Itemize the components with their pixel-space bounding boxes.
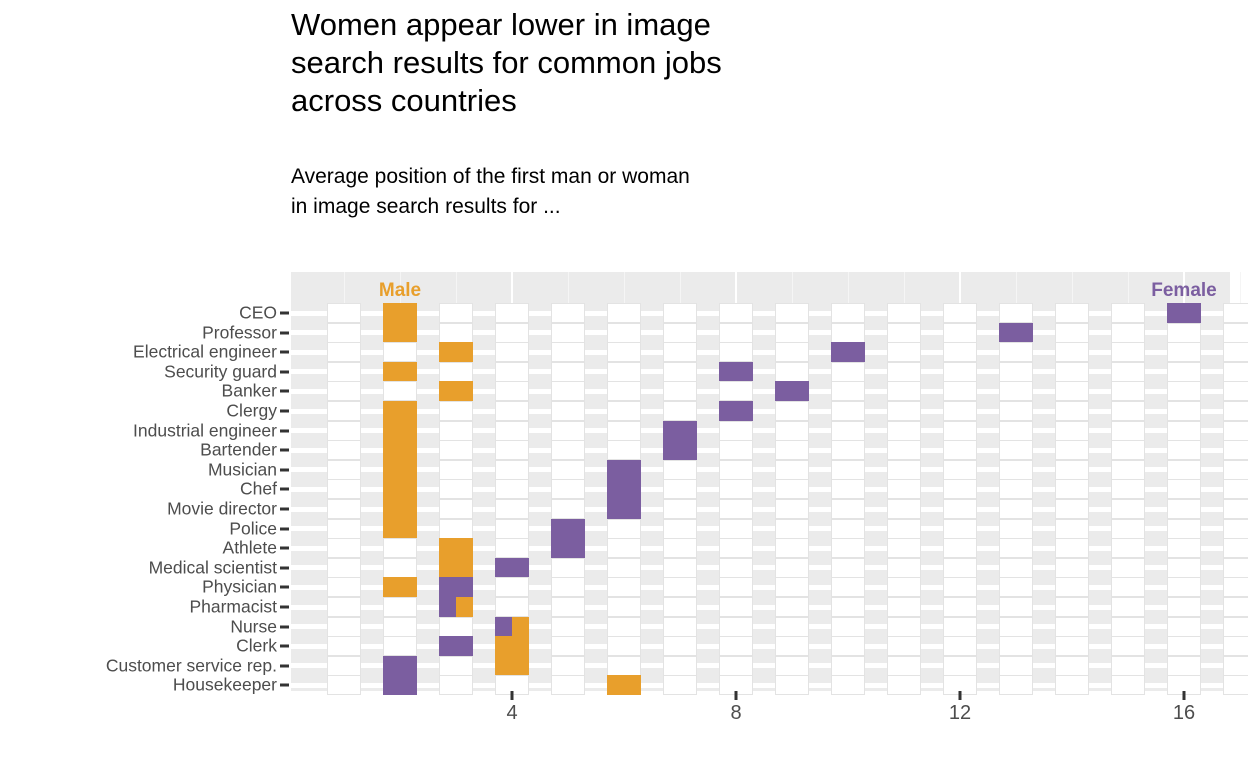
grid-cell	[607, 617, 641, 637]
gridline-row	[291, 624, 1230, 629]
legend-label-female: Female	[1151, 280, 1216, 302]
grid-cell	[775, 656, 809, 676]
grid-cell	[887, 577, 921, 597]
grid-cell	[607, 636, 641, 656]
grid-cell	[719, 421, 753, 441]
y-axis-label: Professor	[202, 322, 277, 343]
grid-cell	[1111, 558, 1145, 578]
grid-cell	[887, 323, 921, 343]
gridline-row	[291, 487, 1230, 492]
gridline-row	[291, 565, 1230, 570]
y-axis-label: Security guard	[164, 361, 277, 382]
y-axis-label: Athlete	[223, 538, 277, 559]
grid-cell	[551, 362, 585, 382]
female-marker[interactable]	[551, 519, 585, 539]
grid-cell	[831, 519, 865, 539]
grid-cell	[775, 460, 809, 480]
grid-cell	[663, 401, 697, 421]
grid-cell	[327, 440, 361, 460]
grid-cell	[775, 538, 809, 558]
male-marker[interactable]	[383, 303, 417, 323]
grid-cell	[775, 558, 809, 578]
grid-cell	[831, 656, 865, 676]
x-axis-tick	[735, 691, 738, 700]
grid-cell	[1111, 538, 1145, 558]
grid-cell	[1055, 656, 1089, 676]
grid-cell	[943, 401, 977, 421]
female-marker[interactable]	[607, 499, 641, 519]
y-axis-tick	[280, 508, 289, 511]
grid-cell	[1055, 479, 1089, 499]
grid-cell	[719, 440, 753, 460]
grid-cell	[719, 342, 753, 362]
grid-cell	[1223, 636, 1248, 656]
grid-cell	[1055, 597, 1089, 617]
grid-cell	[383, 342, 417, 362]
grid-cell	[1223, 362, 1248, 382]
grid-cell	[719, 303, 753, 323]
gridline-row	[291, 644, 1230, 649]
grid-cell	[943, 303, 977, 323]
male-marker[interactable]	[383, 499, 417, 519]
y-axis-tick	[280, 664, 289, 667]
grid-cell	[495, 362, 529, 382]
male-marker[interactable]	[439, 342, 473, 362]
grid-cell	[495, 323, 529, 343]
grid-cell	[719, 519, 753, 539]
male-marker[interactable]	[383, 323, 417, 343]
female-marker[interactable]	[439, 636, 473, 656]
x-axis-tick	[511, 691, 514, 700]
gridline-row	[291, 585, 1230, 590]
grid-cell	[1223, 538, 1248, 558]
grid-cell	[1167, 421, 1201, 441]
female-marker[interactable]	[663, 440, 697, 460]
grid-cell	[1223, 401, 1248, 421]
grid-cell	[607, 303, 641, 323]
y-axis-label: Nurse	[230, 616, 277, 637]
subtitle-block: Average position of the first man or wom…	[291, 162, 1031, 222]
gridline-row	[291, 409, 1230, 414]
y-axis-label: Clergy	[226, 401, 277, 422]
grid-cell	[383, 597, 417, 617]
grid-cell	[551, 460, 585, 480]
gridline-row	[291, 605, 1230, 610]
grid-cell	[775, 636, 809, 656]
grid-cell	[887, 479, 921, 499]
grid-cell	[719, 597, 753, 617]
y-axis-label: Clerk	[236, 636, 277, 657]
grid-cell	[1223, 303, 1248, 323]
grid-cell	[775, 597, 809, 617]
grid-cell	[943, 577, 977, 597]
y-axis-label: Industrial engineer	[133, 420, 277, 441]
grid-cell	[663, 381, 697, 401]
y-axis-label: Chef	[240, 479, 277, 500]
grid-cell	[551, 499, 585, 519]
grid-cell	[327, 401, 361, 421]
grid-cell	[719, 323, 753, 343]
grid-cell	[383, 538, 417, 558]
grid-cell	[663, 617, 697, 637]
grid-cell	[1167, 558, 1201, 578]
grid-cell	[1111, 421, 1145, 441]
grid-cell	[831, 479, 865, 499]
grid-cell	[327, 519, 361, 539]
grid-cell	[999, 558, 1033, 578]
grid-cell	[1055, 381, 1089, 401]
grid-cell	[551, 597, 585, 617]
female-marker[interactable]	[383, 656, 417, 676]
female-marker[interactable]	[607, 460, 641, 480]
grid-cell	[607, 577, 641, 597]
female-marker[interactable]	[1167, 303, 1201, 323]
grid-cell	[663, 656, 697, 676]
grid-cell	[327, 617, 361, 637]
grid-cell	[327, 460, 361, 480]
grid-cell	[943, 440, 977, 460]
female-marker[interactable]	[495, 558, 529, 578]
grid-cell	[607, 362, 641, 382]
male-marker[interactable]	[439, 558, 473, 578]
grid-cell	[327, 558, 361, 578]
grid-cell	[1167, 362, 1201, 382]
grid-cell	[439, 421, 473, 441]
grid-cell	[1111, 362, 1145, 382]
grid-cell	[439, 519, 473, 539]
x-axis-tick	[959, 691, 962, 700]
grid-cell	[1223, 381, 1248, 401]
grid-cell	[495, 401, 529, 421]
grid-cell	[1167, 519, 1201, 539]
grid-cell	[1055, 303, 1089, 323]
y-axis-label: CEO	[239, 303, 277, 324]
grid-cell	[1111, 479, 1145, 499]
grid-cell	[775, 577, 809, 597]
gridline-row	[291, 428, 1230, 433]
gridline-row	[291, 389, 1230, 394]
female-marker[interactable]	[663, 421, 697, 441]
grid-cell	[831, 617, 865, 637]
grid-cell	[663, 303, 697, 323]
grid-cell	[775, 401, 809, 421]
grid-cell	[831, 499, 865, 519]
grid-cell	[719, 479, 753, 499]
grid-cell	[327, 577, 361, 597]
male-marker[interactable]	[383, 460, 417, 480]
grid-cell	[327, 381, 361, 401]
grid-cell	[831, 401, 865, 421]
grid-cell	[495, 342, 529, 362]
grid-cell	[1111, 617, 1145, 637]
grid-cell	[999, 597, 1033, 617]
y-axis-tick	[280, 625, 289, 628]
grid-cell	[551, 617, 585, 637]
grid-cell	[663, 362, 697, 382]
grid-cell	[607, 656, 641, 676]
gridline-row	[291, 369, 1230, 374]
grid-cell	[607, 401, 641, 421]
grid-cell	[439, 401, 473, 421]
grid-cell	[607, 342, 641, 362]
grid-cell	[719, 577, 753, 597]
grid-cell	[551, 479, 585, 499]
grid-cell	[663, 636, 697, 656]
grid-cell	[831, 597, 865, 617]
y-axis-tick	[280, 547, 289, 550]
x-axis-label: 16	[1173, 702, 1195, 725]
gridline-row	[291, 350, 1230, 355]
grid-cell	[831, 577, 865, 597]
grid-cell	[999, 538, 1033, 558]
y-axis-tick	[280, 606, 289, 609]
male-marker[interactable]	[495, 656, 529, 676]
grid-cell	[943, 342, 977, 362]
male-marker[interactable]	[512, 617, 529, 637]
grid-cell	[495, 479, 529, 499]
grid-cell	[999, 656, 1033, 676]
grid-cell	[439, 303, 473, 323]
grid-cell	[439, 617, 473, 637]
grid-cell	[999, 421, 1033, 441]
grid-cell	[831, 636, 865, 656]
grid-cell	[887, 597, 921, 617]
grid-cell	[439, 499, 473, 519]
x-axis: 481216	[291, 691, 1230, 751]
grid-cell	[1111, 499, 1145, 519]
grid-cell	[887, 617, 921, 637]
female-marker[interactable]	[607, 479, 641, 499]
male-marker[interactable]	[383, 401, 417, 421]
grid-cell	[327, 597, 361, 617]
y-axis-tick	[280, 684, 289, 687]
grid-cell	[327, 479, 361, 499]
male-marker[interactable]	[383, 519, 417, 539]
male-marker[interactable]	[456, 597, 473, 617]
grid-cell	[1223, 342, 1248, 362]
y-axis-tick	[280, 390, 289, 393]
grid-cell	[719, 381, 753, 401]
grid-cell	[943, 421, 977, 441]
male-marker[interactable]	[439, 381, 473, 401]
grid-cell	[1223, 597, 1248, 617]
female-marker[interactable]	[719, 401, 753, 421]
grid-cell	[1167, 617, 1201, 637]
grid-cell	[551, 440, 585, 460]
grid-cell	[551, 636, 585, 656]
grid-cell	[663, 479, 697, 499]
male-marker[interactable]	[383, 421, 417, 441]
grid-cell	[1111, 519, 1145, 539]
grid-cell	[999, 342, 1033, 362]
grid-cell	[887, 460, 921, 480]
grid-cell	[495, 577, 529, 597]
grid-cell	[1167, 401, 1201, 421]
y-axis-label: Pharmacist	[189, 597, 277, 618]
grid-cell	[943, 636, 977, 656]
grid-cell	[831, 421, 865, 441]
grid-cell	[495, 440, 529, 460]
y-axis-label: Medical scientist	[149, 557, 277, 578]
grid-cell	[327, 362, 361, 382]
male-marker[interactable]	[439, 538, 473, 558]
grid-cell	[887, 440, 921, 460]
gridline-row	[291, 546, 1230, 551]
grid-cell	[1111, 636, 1145, 656]
grid-cell	[887, 538, 921, 558]
grid-cell	[887, 558, 921, 578]
grid-cell	[887, 499, 921, 519]
grid-cell	[775, 323, 809, 343]
grid-cell	[1223, 479, 1248, 499]
x-axis-label: 8	[730, 702, 741, 725]
chart-title: Women appear lower in image search resul…	[291, 6, 1011, 120]
x-axis-tick	[1183, 691, 1186, 700]
grid-cell	[1055, 499, 1089, 519]
grid-cell	[831, 440, 865, 460]
grid-cell	[831, 460, 865, 480]
grid-cell	[1167, 577, 1201, 597]
grid-cell	[999, 617, 1033, 637]
grid-cell	[775, 617, 809, 637]
y-axis-label: Bartender	[200, 440, 277, 461]
plot-area: MaleFemale	[291, 272, 1230, 691]
male-marker[interactable]	[383, 440, 417, 460]
male-marker[interactable]	[383, 577, 417, 597]
grid-cell	[663, 460, 697, 480]
grid-cell	[1111, 342, 1145, 362]
grid-cell	[719, 460, 753, 480]
grid-cell	[943, 323, 977, 343]
grid-cell	[1111, 381, 1145, 401]
grid-cell	[327, 499, 361, 519]
grid-cell	[551, 656, 585, 676]
female-marker[interactable]	[439, 577, 473, 597]
grid-cell	[607, 381, 641, 401]
grid-cell	[999, 381, 1033, 401]
chart-subtitle: Average position of the first man or wom…	[291, 162, 1031, 222]
grid-cell	[831, 303, 865, 323]
grid-cell	[887, 303, 921, 323]
grid-cell	[439, 440, 473, 460]
grid-cell	[1167, 538, 1201, 558]
y-axis: CEOProfessorElectrical engineerSecurity …	[0, 272, 291, 691]
grid-cell	[775, 440, 809, 460]
grid-cell	[607, 597, 641, 617]
grid-cell	[1223, 460, 1248, 480]
x-axis-label: 12	[949, 702, 971, 725]
grid-cell	[943, 538, 977, 558]
grid-cell	[495, 538, 529, 558]
y-axis-label: Police	[229, 518, 277, 539]
y-axis-label: Customer service rep.	[106, 655, 277, 676]
grid-cell	[1055, 323, 1089, 343]
grid-cell	[831, 538, 865, 558]
grid-cell	[663, 499, 697, 519]
female-marker[interactable]	[439, 597, 456, 617]
grid-cell	[1055, 440, 1089, 460]
grid-cell	[1167, 440, 1201, 460]
y-axis-label: Movie director	[167, 499, 277, 520]
grid-cell	[887, 519, 921, 539]
grid-cell	[607, 519, 641, 539]
grid-cell	[943, 617, 977, 637]
y-axis-tick	[280, 488, 289, 491]
y-axis-tick	[280, 468, 289, 471]
grid-cell	[495, 597, 529, 617]
grid-cell	[607, 323, 641, 343]
male-marker[interactable]	[383, 479, 417, 499]
grid-cell	[1111, 460, 1145, 480]
y-axis-tick	[280, 586, 289, 589]
grid-cell	[551, 342, 585, 362]
female-marker[interactable]	[999, 323, 1033, 343]
grid-cell	[327, 656, 361, 676]
female-marker[interactable]	[551, 538, 585, 558]
grid-cell	[943, 381, 977, 401]
grid-cell	[1223, 440, 1248, 460]
grid-cell	[327, 421, 361, 441]
male-marker[interactable]	[495, 636, 529, 656]
grid-cell	[495, 519, 529, 539]
grid-cell	[775, 499, 809, 519]
grid-cell	[607, 421, 641, 441]
y-axis-label: Housekeeper	[173, 675, 277, 696]
grid-cell	[607, 440, 641, 460]
female-marker[interactable]	[775, 381, 809, 401]
grid-cell	[1111, 303, 1145, 323]
male-marker[interactable]	[383, 362, 417, 382]
gridline-row	[291, 467, 1230, 472]
grid-cell	[1055, 362, 1089, 382]
grid-cell	[943, 479, 977, 499]
grid-cell	[383, 381, 417, 401]
grid-cell	[831, 558, 865, 578]
female-marker[interactable]	[831, 342, 865, 362]
y-axis-label: Electrical engineer	[133, 342, 277, 363]
gridline-row	[291, 330, 1230, 335]
y-axis-tick	[280, 449, 289, 452]
female-marker[interactable]	[719, 362, 753, 382]
grid-cell	[1055, 519, 1089, 539]
grid-cell	[1167, 381, 1201, 401]
grid-cell	[1111, 401, 1145, 421]
grid-cell	[663, 577, 697, 597]
grid-cell	[943, 460, 977, 480]
y-axis-tick	[280, 566, 289, 569]
grid-cell	[1167, 636, 1201, 656]
grid-cell	[999, 499, 1033, 519]
gridline-row	[291, 526, 1230, 531]
female-marker[interactable]	[495, 617, 512, 637]
grid-cell	[607, 558, 641, 578]
grid-cell	[999, 519, 1033, 539]
grid-cell	[1055, 538, 1089, 558]
grid-cell	[551, 323, 585, 343]
grid-cell	[887, 636, 921, 656]
grid-cell	[1223, 656, 1248, 676]
grid-cell	[551, 381, 585, 401]
grid-cell	[663, 538, 697, 558]
y-axis-tick	[280, 331, 289, 334]
legend-label-male: Male	[379, 280, 421, 302]
grid-cell	[1055, 577, 1089, 597]
y-axis-tick	[280, 370, 289, 373]
x-axis-label: 4	[506, 702, 517, 725]
grid-cell	[775, 479, 809, 499]
grid-cell	[999, 401, 1033, 421]
grid-cell	[327, 323, 361, 343]
